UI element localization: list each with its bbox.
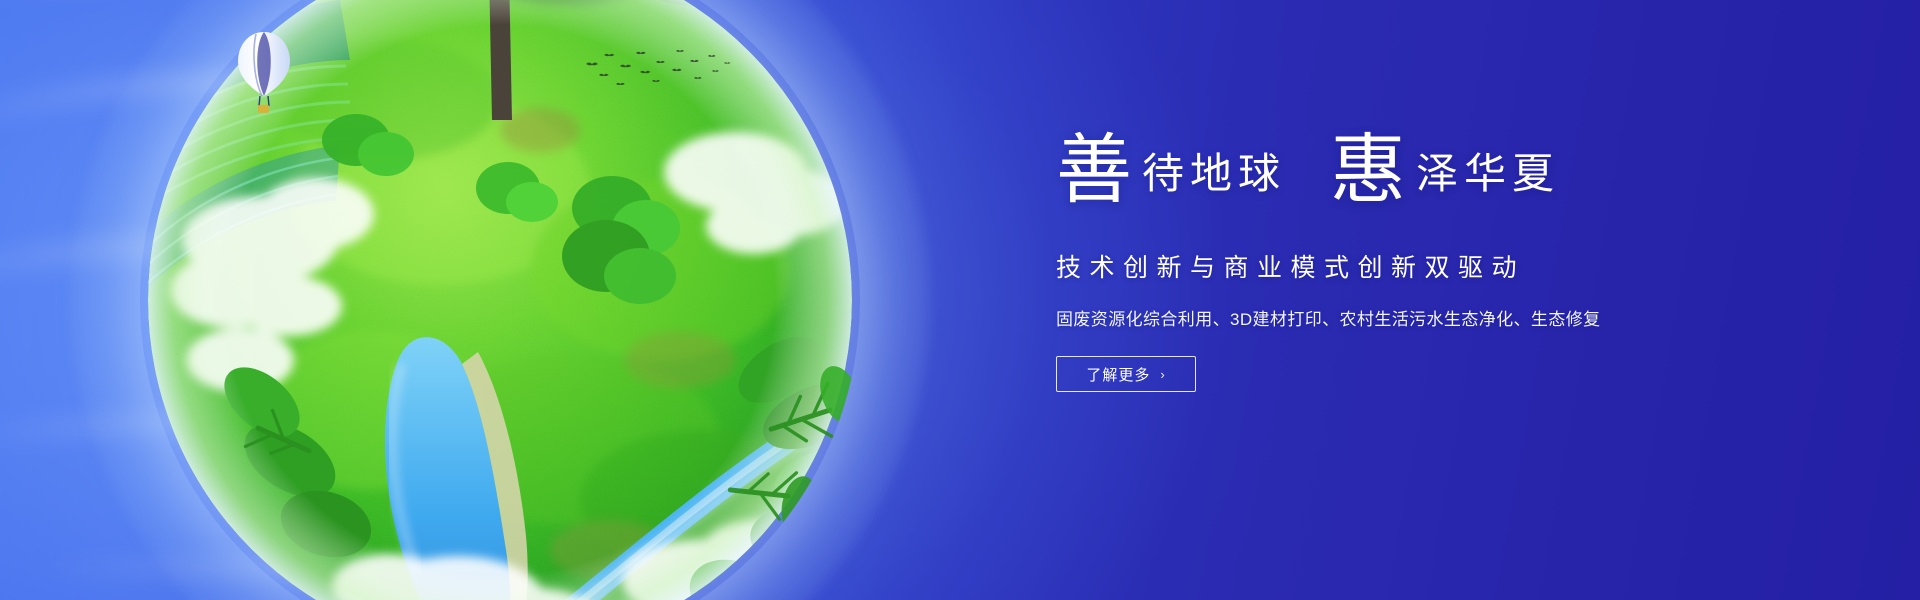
hero-copy: 善 待地球 惠 泽华夏 技术创新与商业模式创新双驱动 固废资源化综合利用、3D建… xyxy=(1056,126,1676,392)
learn-more-label: 了解更多 xyxy=(1086,364,1150,385)
hot-air-balloon-icon xyxy=(236,30,292,116)
headline-zehuaxia: 泽华夏 xyxy=(1416,153,1560,195)
chevron-right-icon: › xyxy=(1160,367,1165,382)
hero-description: 固废资源化综合利用、3D建材打印、农村生活污水生态净化、生态修复 xyxy=(1056,305,1676,330)
headline: 善 待地球 惠 泽华夏 xyxy=(1056,126,1676,230)
headline-daidiqiu: 待地球 xyxy=(1142,153,1286,195)
learn-more-button[interactable]: 了解更多 › xyxy=(1056,356,1196,392)
headline-char-shan: 善 xyxy=(1056,132,1132,208)
bird-flock-icon xyxy=(582,44,732,94)
hero-banner: 善 待地球 惠 泽华夏 技术创新与商业模式创新双驱动 固废资源化综合利用、3D建… xyxy=(0,0,1920,600)
headline-char-hui: 惠 xyxy=(1330,132,1406,208)
hero-subtitle: 技术创新与商业模式创新双驱动 xyxy=(1056,248,1676,284)
